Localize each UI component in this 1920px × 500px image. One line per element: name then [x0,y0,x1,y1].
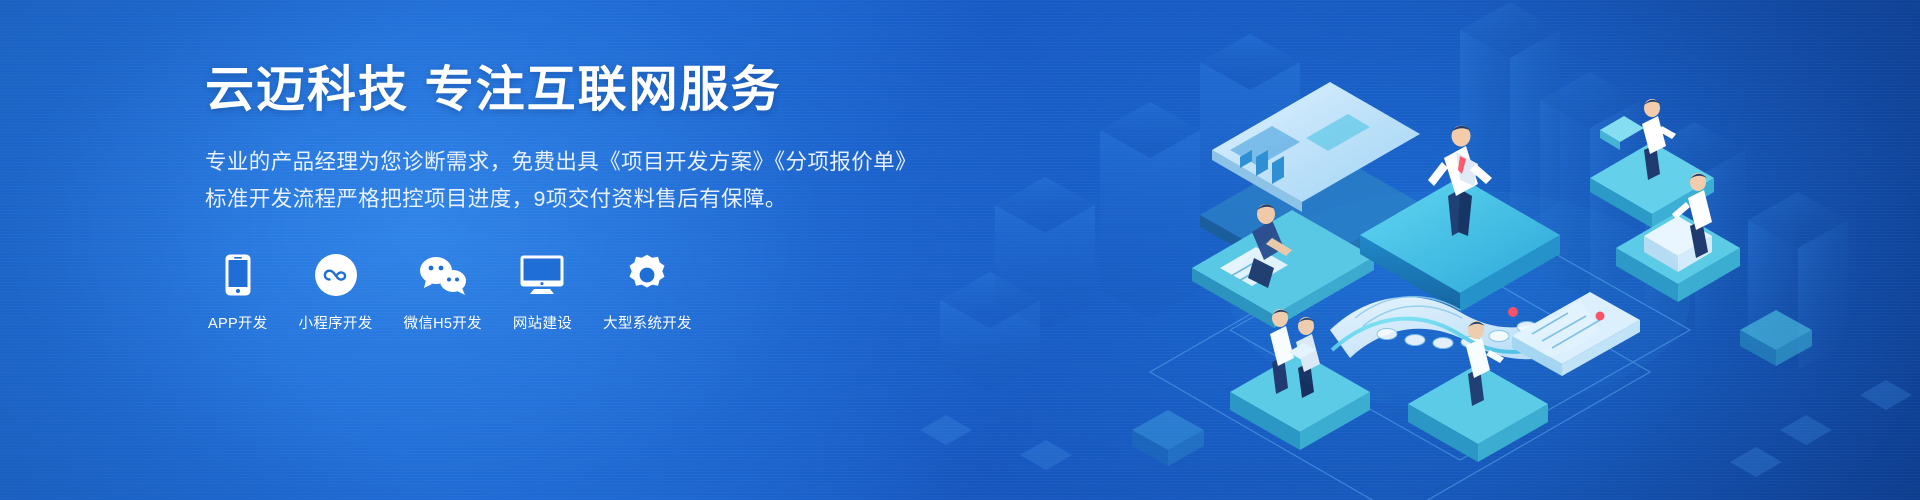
hero-banner: 云迈科技 专注互联网服务 专业的产品经理为您诊断需求，免费出具《项目开发方案》《… [0,0,1920,500]
service-item-website[interactable]: 网站建设 [513,252,572,333]
illustration-glow [1230,190,1690,410]
banner-subtitle: 专业的产品经理为您诊断需求，免费出具《项目开发方案》《分项报价单》 标准开发流程… [205,144,925,218]
gear-icon [626,252,668,298]
mini-program-icon [315,252,357,298]
banner-subtitle-line-1: 专业的产品经理为您诊断需求，免费出具《项目开发方案》《分项报价单》 [205,144,925,181]
service-label-large-system: 大型系统开发 [603,312,692,333]
service-label-website: 网站建设 [513,312,572,333]
wechat-icon [418,252,468,298]
service-label-mini-program: 小程序开发 [299,312,373,333]
illustration-isometric-tech-team [900,0,1920,500]
banner-subtitle-line-2: 标准开发流程严格把控项目进度，9项交付资料售后有保障。 [205,181,925,218]
banner-headline: 云迈科技 专注互联网服务 [205,62,925,120]
service-label-wechat-h5: 微信H5开发 [404,312,482,333]
service-item-app[interactable]: APP开发 [208,252,268,333]
monitor-icon [520,252,564,298]
service-item-wechat-h5[interactable]: 微信H5开发 [404,252,482,333]
service-item-mini-program[interactable]: 小程序开发 [299,252,373,333]
phone-icon [225,252,251,298]
banner-content: 云迈科技 专注互联网服务 专业的产品经理为您诊断需求，免费出具《项目开发方案》《… [205,62,925,333]
service-list: APP开发 小程序开发 [205,252,925,333]
service-label-app: APP开发 [208,312,268,333]
service-item-large-system[interactable]: 大型系统开发 [603,252,692,333]
